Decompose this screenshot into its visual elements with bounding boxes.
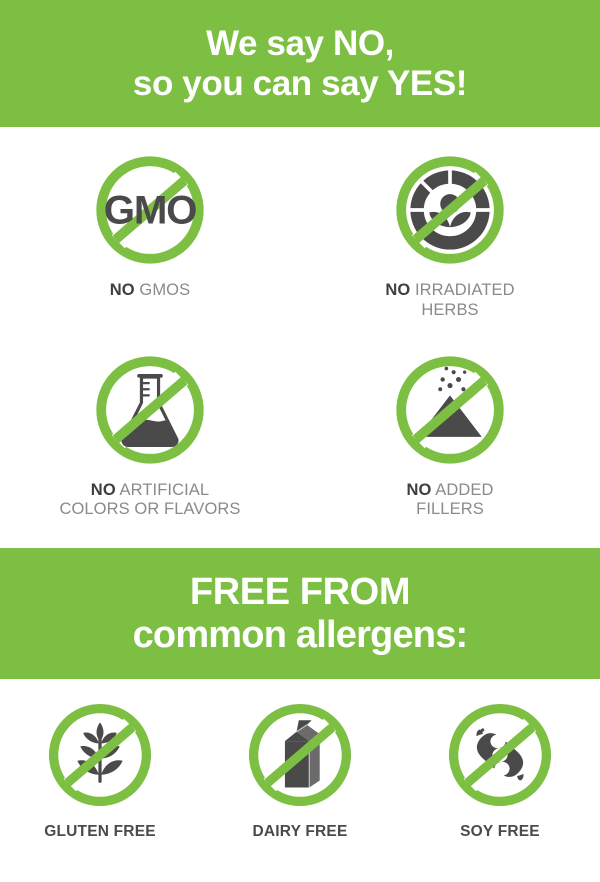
no-claims-grid: GMO NO GMOS bbox=[0, 127, 600, 548]
no-irradiated-herbs-icon bbox=[389, 149, 511, 271]
allergen-free-dairy: DAIRY FREE bbox=[242, 697, 358, 882]
no-claim-label: NO ADDED FILLERS bbox=[407, 481, 494, 521]
no-claim-gmos: GMO NO GMOS bbox=[15, 149, 285, 349]
no-claim-label: NO ARTIFICIAL COLORS OR FLAVORS bbox=[59, 481, 240, 521]
no-claim-label: NO GMOS bbox=[110, 281, 190, 301]
allergen-banner: FREE FROM common allergens: bbox=[0, 548, 600, 679]
gluten-free-wheat-icon bbox=[42, 697, 158, 813]
no-claim-text-line-1: GMOS bbox=[139, 281, 190, 299]
no-claim-text-line-2: HERBS bbox=[421, 301, 478, 319]
allergen-free-label: DAIRY FREE bbox=[252, 823, 347, 841]
no-claim-text-line-1: ADDED bbox=[435, 481, 493, 499]
no-claim-text-line-2: COLORS OR FLAVORS bbox=[59, 500, 240, 518]
no-claim-added-fillers: NO ADDED FILLERS bbox=[315, 349, 585, 549]
no-prefix: NO bbox=[407, 481, 432, 499]
no-prefix: NO bbox=[385, 281, 410, 299]
svg-text:GMO: GMO bbox=[104, 188, 196, 233]
allergen-free-label: SOY FREE bbox=[460, 823, 540, 841]
allergen-title-line-2: common allergens: bbox=[133, 614, 468, 657]
allergen-free-row: GLUTEN FREE bbox=[0, 679, 600, 882]
no-prefix: NO bbox=[110, 281, 135, 299]
no-prefix: NO bbox=[91, 481, 116, 499]
allergen-free-gluten: GLUTEN FREE bbox=[42, 697, 158, 882]
header-title-line-1: We say NO, bbox=[206, 24, 394, 64]
allergen-free-soy: SOY FREE bbox=[442, 697, 558, 882]
header-title-line-2: so you can say YES! bbox=[133, 64, 467, 104]
no-claim-irradiated-herbs: NO IRRADIATED HERBS bbox=[315, 149, 585, 349]
header-banner: We say NO, so you can say YES! bbox=[0, 0, 600, 127]
no-claim-text-line-1: IRRADIATED bbox=[415, 281, 515, 299]
no-claim-text-line-2: FILLERS bbox=[416, 500, 484, 518]
no-claim-text-line-1: ARTIFICIAL bbox=[120, 481, 210, 499]
allergen-title-line-1: FREE FROM bbox=[190, 571, 410, 614]
no-claim-artificial-colors: NO ARTIFICIAL COLORS OR FLAVORS bbox=[15, 349, 285, 549]
dairy-free-carton-icon bbox=[242, 697, 358, 813]
no-gmo-icon: GMO bbox=[89, 149, 211, 271]
soy-free-bean-icon bbox=[442, 697, 558, 813]
no-artificial-flask-icon bbox=[89, 349, 211, 471]
no-claim-label: NO IRRADIATED HERBS bbox=[385, 281, 514, 321]
allergen-free-label: GLUTEN FREE bbox=[44, 823, 156, 841]
no-added-fillers-icon bbox=[389, 349, 511, 471]
